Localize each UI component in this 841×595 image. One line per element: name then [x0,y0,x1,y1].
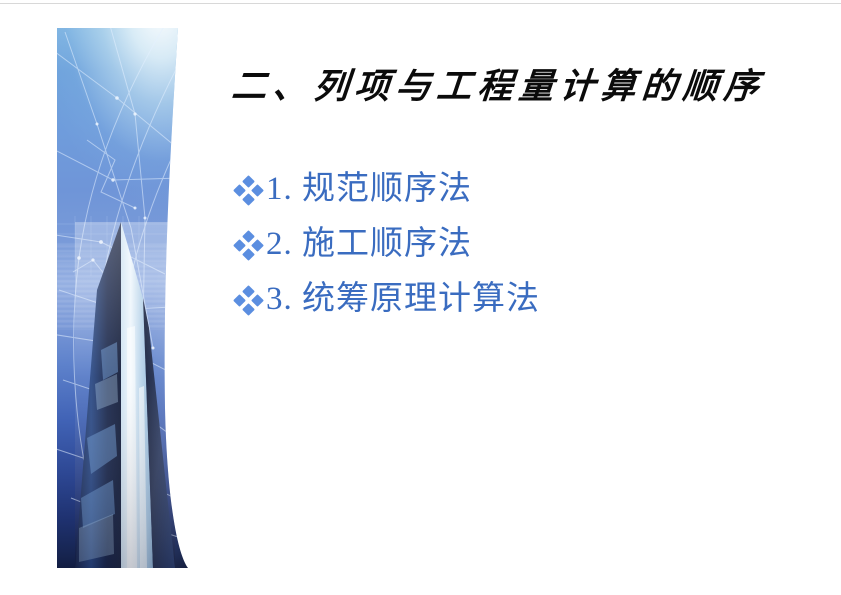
bullet-item-3-label: 3. 统筹原理计算法 [266,283,540,316]
bullet-list: 1. 规范顺序法 2. 施工顺序法 3. 统筹原理计算法 [234,162,794,327]
bullet-item-1[interactable]: 1. 规范顺序法 [234,162,794,217]
skyscraper-tower-graphic [57,28,190,568]
bullet-item-3[interactable]: 3. 统筹原理计算法 [234,272,794,327]
page-top-divider [0,3,841,4]
diamond-cluster-bullet-icon [234,175,264,205]
decorative-side-panel [57,28,190,568]
slide-page: 二、列项与工程量计算的顺序 1. 规范顺序法 2. 施工顺序法 3. 统筹原理计… [0,0,841,595]
bullet-item-2-label: 2. 施工顺序法 [266,228,472,261]
bullet-item-1-label: 1. 规范顺序法 [266,173,472,206]
slide-title: 二、列项与工程量计算的顺序 [230,58,814,109]
diamond-cluster-bullet-icon [234,285,264,315]
diamond-cluster-bullet-icon [234,230,264,260]
bullet-item-2[interactable]: 2. 施工顺序法 [234,217,794,272]
